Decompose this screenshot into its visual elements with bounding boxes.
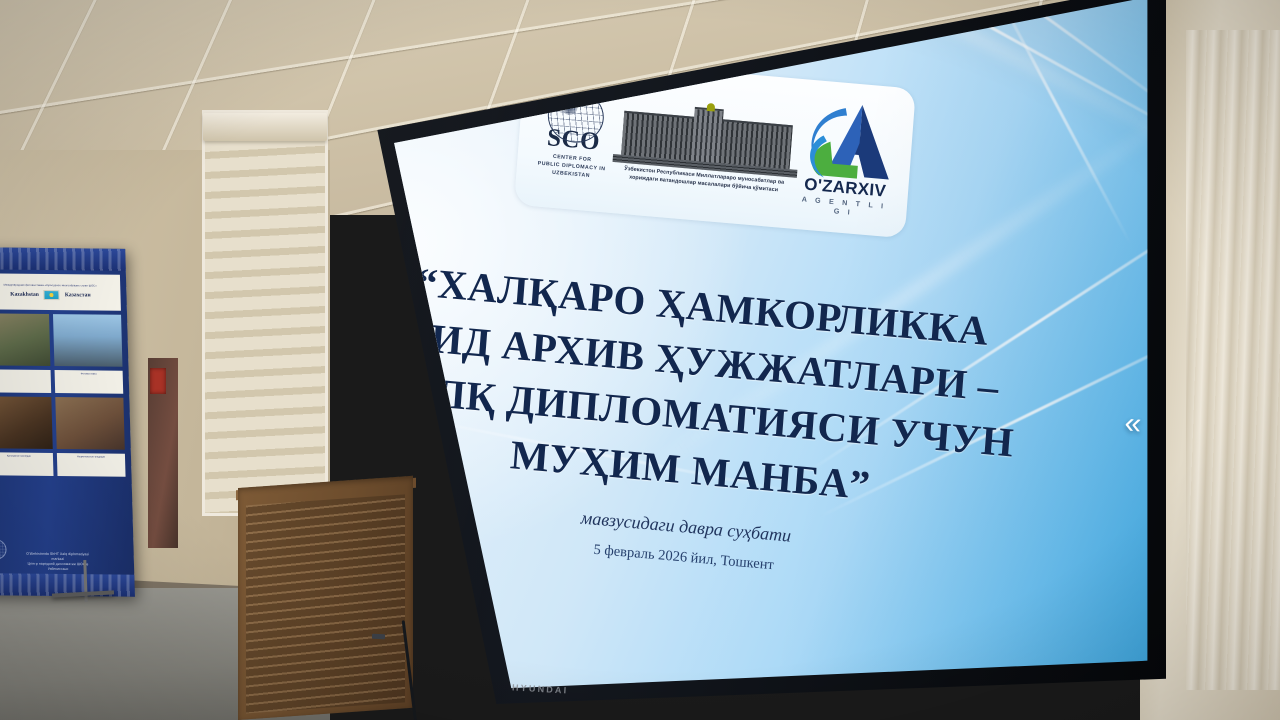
banner-photo — [55, 397, 124, 450]
banner-footer: O'zbekistonda ShHT Xalq diplomatiyasi ma… — [0, 551, 134, 573]
fire-alarm-icon — [150, 368, 166, 394]
banner-footer-line-4: Узбекистане — [0, 566, 120, 572]
banner-caption: Фотовыставка — [55, 370, 124, 394]
government-building-icon — [613, 96, 802, 178]
window-blinds[interactable] — [205, 139, 325, 513]
banner-ornament-top — [0, 247, 126, 271]
ir-sensor — [372, 634, 385, 640]
sco-logo-tagline: CENTER FOR PUBLIC DIPLOMACY IN UZBEKISTA… — [530, 151, 613, 182]
banner-photo — [0, 313, 50, 366]
window — [202, 110, 328, 516]
banner-header: Международная фотовыставка «Культурное м… — [0, 273, 121, 310]
banner-caption: Культурное наследие — [0, 452, 54, 476]
banner-photo — [53, 314, 122, 367]
ozarxiv-mark-icon — [797, 97, 901, 187]
blind-headrail — [203, 113, 327, 141]
right-curtain — [1186, 30, 1280, 690]
banner-title-cyrillic: Казахстан — [65, 292, 91, 298]
banner-title-latin: Kazakhstan — [10, 291, 39, 297]
kazakhstan-flag-icon — [44, 290, 60, 300]
ozarxiv-logo: O'ZARXIV A G E N T L I G I — [794, 97, 900, 220]
banner-photo-grid: Фотовыставка Культурное наследие Национа… — [0, 313, 126, 476]
banner-caption: Национальные традиции — [57, 453, 126, 477]
banner-photo — [0, 396, 53, 449]
banner-caption — [0, 369, 51, 393]
ministry-logo: Ўзбекистон Республикаси Миллатлараро мун… — [611, 96, 802, 196]
banner-header-subtitle: Международная фотовыставка «Культурное м… — [4, 284, 97, 288]
collapse-sidebar-icon[interactable]: « — [1112, 403, 1155, 446]
conference-room-scene: Международная фотовыставка «Культурное м… — [0, 0, 1280, 720]
rollup-banner: Международная фотовыставка «Культурное м… — [0, 247, 135, 596]
radiator-cabinet — [238, 476, 413, 720]
